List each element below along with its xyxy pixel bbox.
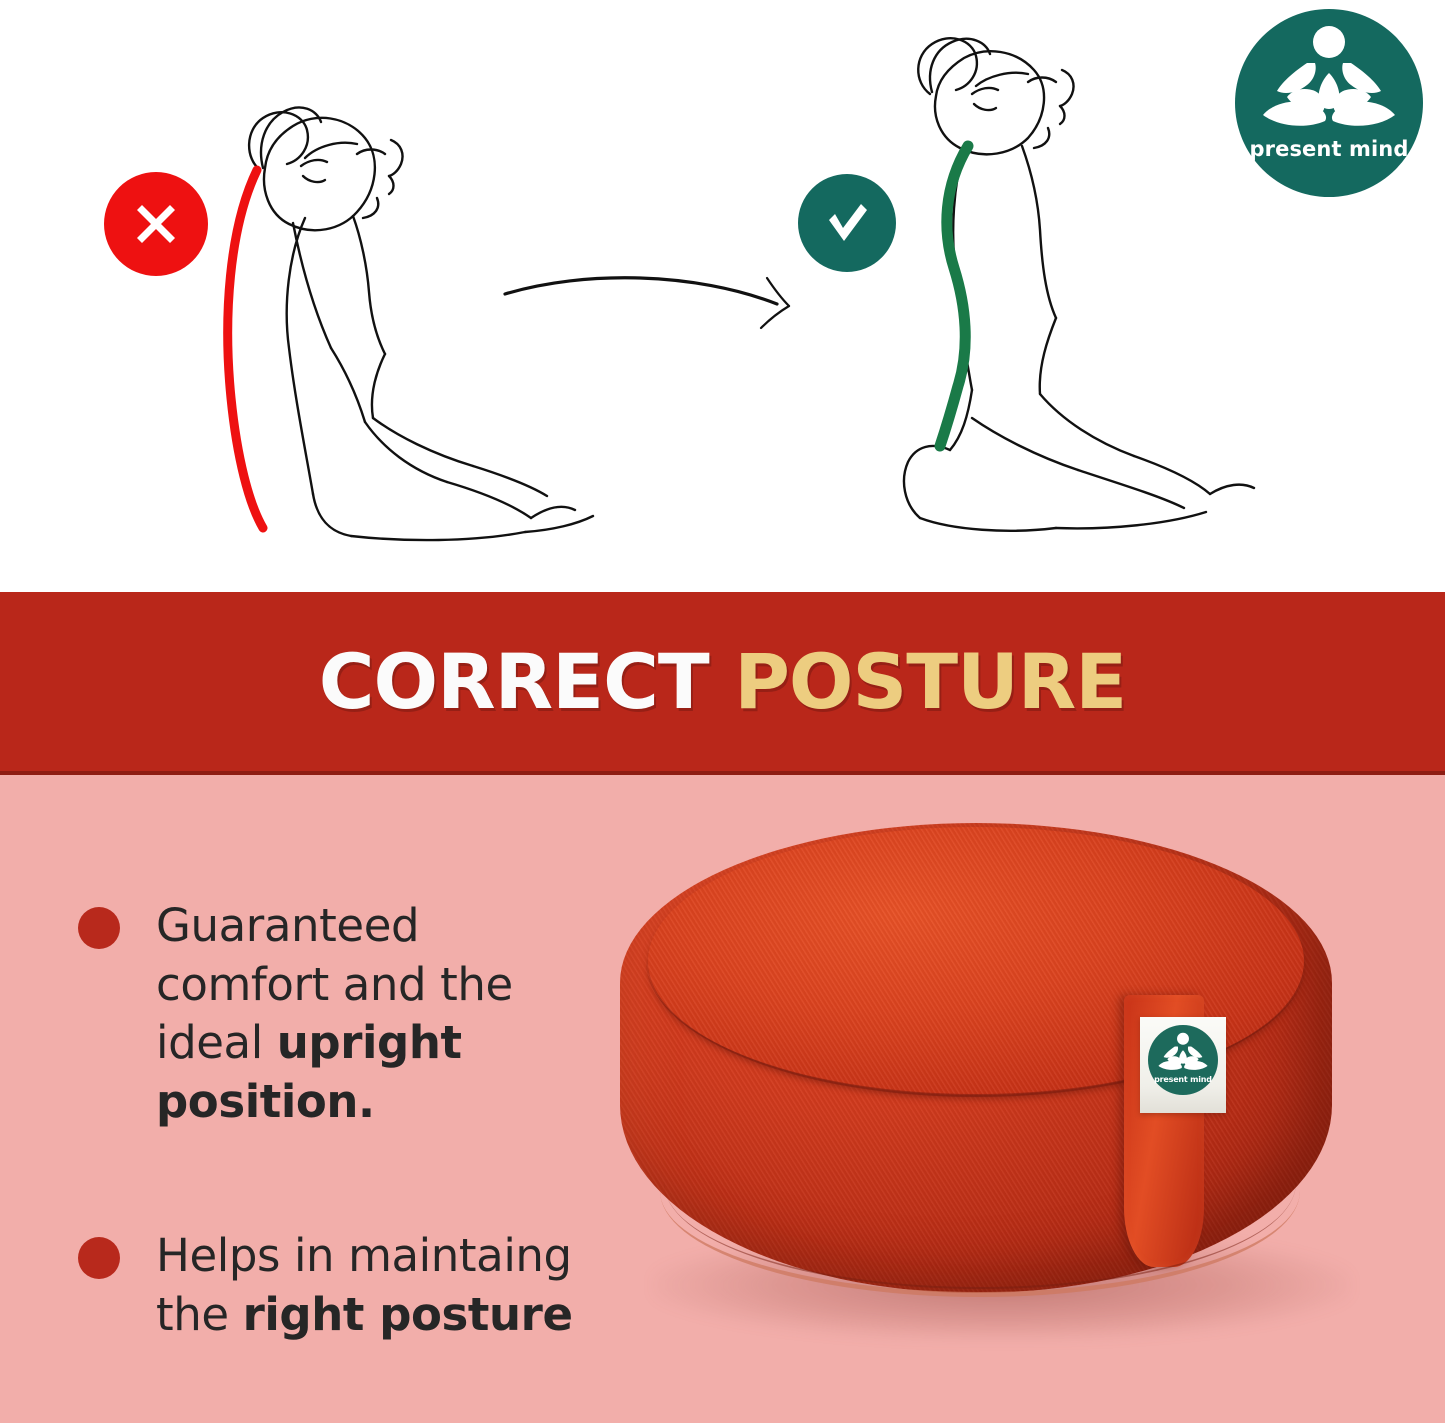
feature-text: Guaranteed comfort and the ideal upright… xyxy=(156,897,598,1131)
brand-logo: present mind xyxy=(1235,9,1423,197)
label-brand-name: present mind xyxy=(1148,1075,1218,1084)
bad-spine-line xyxy=(228,170,263,528)
infographic-page: present mind CORRECT POSTURE Guaranteed … xyxy=(0,0,1445,1423)
product-image-meditation-cushion: present mind xyxy=(600,805,1400,1375)
upright-kneeling-woman-icon xyxy=(880,18,1290,580)
meditating-figure-lotus-icon xyxy=(1148,1031,1218,1077)
bullet-dot-icon xyxy=(78,907,120,949)
title-word-correct: CORRECT xyxy=(319,637,709,726)
feature-list: Guaranteed comfort and the ideal upright… xyxy=(78,897,598,1344)
product-label-tag: present mind xyxy=(1140,1017,1226,1113)
good-spine-line xyxy=(940,146,968,446)
meditating-figure-lotus-icon xyxy=(1235,23,1423,143)
brand-name: present mind xyxy=(1235,137,1423,161)
banner: CORRECT POSTURE xyxy=(0,592,1445,775)
curved-right-arrow-icon xyxy=(495,252,815,357)
posture-comparison-panel: present mind xyxy=(0,0,1445,592)
feature-text: Helps in maintaing the right posture xyxy=(156,1227,598,1344)
bullet-dot-icon xyxy=(78,1237,120,1279)
page-title: CORRECT POSTURE xyxy=(319,644,1126,720)
title-word-posture: POSTURE xyxy=(734,637,1126,726)
list-item: Guaranteed comfort and the ideal upright… xyxy=(78,897,598,1131)
cross-icon xyxy=(104,172,208,276)
feature-text-bold: right posture xyxy=(243,1288,573,1341)
list-item: Helps in maintaing the right posture xyxy=(78,1227,598,1344)
features-panel: Guaranteed comfort and the ideal upright… xyxy=(0,775,1445,1423)
